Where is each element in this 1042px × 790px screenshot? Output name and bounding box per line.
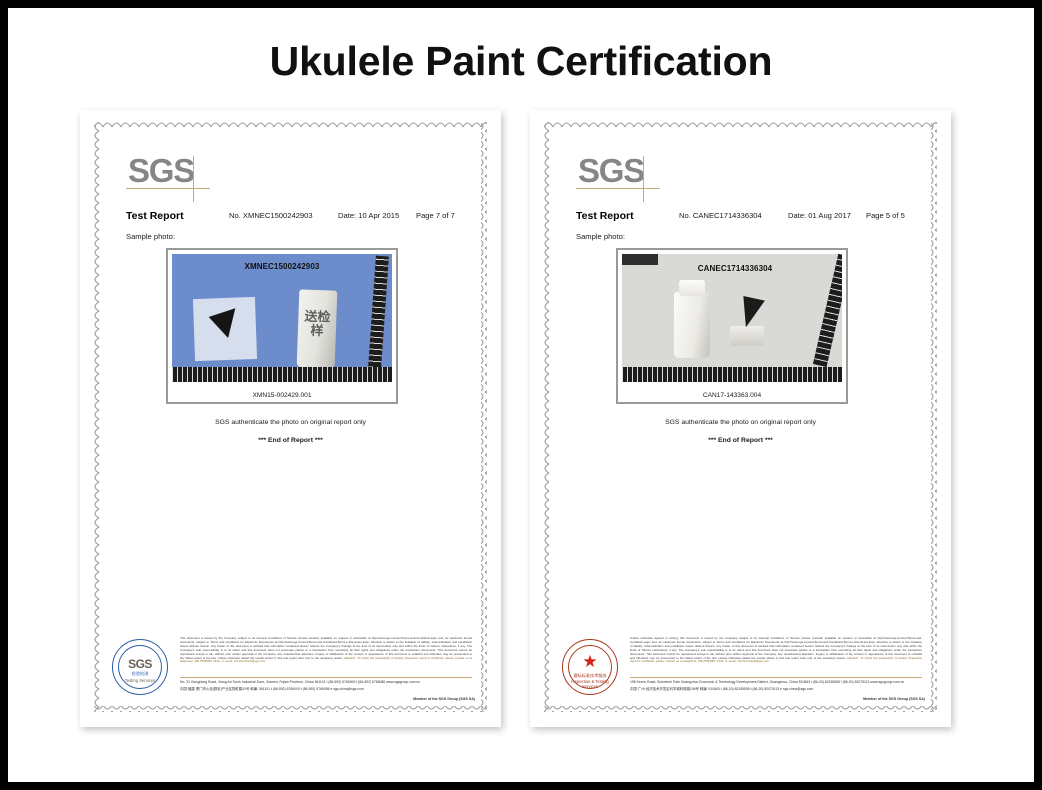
legal-disclaimer: This document is issued by the Company s… <box>180 637 472 664</box>
document-canvas: Ukulele Paint Certification <box>8 8 1034 782</box>
photo-overlay-code: CANEC1714336304 <box>628 264 842 273</box>
address-english: No. 31 Xianghong Road, Xiang An Torch In… <box>180 680 472 685</box>
sgs-logo-right: SGS <box>576 154 662 200</box>
bottle-cap <box>679 280 705 296</box>
ruler-horizontal <box>172 367 392 382</box>
address-chinese: 中国·福建·厦门市火炬(翔安)产业区翔虹路31号 邮编: 361101 t (8… <box>180 687 472 692</box>
ruler-horizontal <box>622 367 842 382</box>
sgs-logo-hline <box>576 188 660 189</box>
sample-photo-label: Sample photo: <box>126 232 175 241</box>
paint-fragment <box>737 296 765 330</box>
end-of-report-text: *** End of Report *** <box>554 437 927 444</box>
certificate-card-right[interactable]: SGS Test Report No. CANEC1714336304 Date… <box>530 110 951 727</box>
bottle-label-text: 送检样 <box>299 309 334 352</box>
sample-photo-image-right: CANEC1714336304 <box>622 254 842 382</box>
report-number: No. CANEC1714336304 <box>679 211 762 220</box>
report-title: Test Report <box>576 210 634 222</box>
page-title: Ukulele Paint Certification <box>8 38 1034 85</box>
member-line: Member of the SGS Group (SGS SA) <box>413 697 475 701</box>
address-divider <box>180 677 472 678</box>
sample-stand <box>730 326 764 346</box>
report-date: Date: 01 Aug 2017 <box>788 211 851 220</box>
certificate-footer-left: SGS 检验检测 Testing Services This document … <box>104 637 477 703</box>
end-of-report-text: *** End of Report *** <box>104 437 477 444</box>
ruler-ticks <box>368 256 389 369</box>
sgs-logo-text: SGS <box>578 154 644 188</box>
sgs-logo-left: SGS <box>126 154 212 200</box>
address-english: 198 Kezhu Road, Scientech Park Guangzhou… <box>630 680 922 685</box>
sample-photo-image-left: XMNEC1500242903 送检样 <box>172 254 392 382</box>
ruler-vertical <box>368 256 389 369</box>
photo-overlay-code: XMNEC1500242903 <box>172 262 392 271</box>
legal-disclaimer: Unless otherwise agreed in writing, this… <box>630 637 922 664</box>
photo-caption: CAN17-143363.004 <box>618 392 846 399</box>
authenticate-text: SGS authenticate the photo on original r… <box>104 419 477 426</box>
report-number: No. XMNEC1500242903 <box>229 211 313 220</box>
sgs-logo-vline <box>193 156 194 202</box>
seal-word: SGS <box>113 657 167 671</box>
report-header-right: Test Report No. CANEC1714336304 Date: 01… <box>576 210 906 224</box>
sgs-testing-seal: SGS 检验检测 Testing Services <box>112 639 168 695</box>
certificate-card-left[interactable]: SGS Test Report No. XMNEC1500242903 Date… <box>80 110 501 727</box>
sample-bottle <box>674 292 710 358</box>
photo-caption: XMN15-002429.001 <box>168 392 396 399</box>
sample-photo-label: Sample photo: <box>576 232 625 241</box>
sample-photo-frame-right: CANEC1714336304 CAN17-143363.004 <box>616 248 848 404</box>
report-header-left: Test Report No. XMNEC1500242903 Date: 10… <box>126 210 456 224</box>
seal-subtitle: Inspection & Testing Services <box>563 679 617 689</box>
authenticate-text: SGS authenticate the photo on original r… <box>554 419 927 426</box>
ruler-ticks <box>622 367 842 382</box>
certificate-content-left: SGS Test Report No. XMNEC1500242903 Date… <box>104 132 477 702</box>
ruler-ticks <box>172 367 392 382</box>
sgs-logo-vline <box>643 156 644 202</box>
sgs-logo-text: SGS <box>128 154 194 188</box>
report-title: Test Report <box>126 210 184 222</box>
member-line: Member of the SGS Group (SGS SA) <box>863 697 925 701</box>
report-page: Page 7 of 7 <box>416 211 455 220</box>
report-page: Page 5 of 5 <box>866 211 905 220</box>
seal-chinese-text: 检验检测 <box>113 671 167 677</box>
certificate-footer-right: ★ 通标标准技术服务 Inspection & Testing Services… <box>554 637 927 703</box>
seal-subtitle: Testing Services <box>113 678 167 683</box>
certificate-content-right: SGS Test Report No. CANEC1714336304 Date… <box>554 132 927 702</box>
star-icon: ★ <box>582 654 598 670</box>
address-divider <box>630 677 922 678</box>
address-chinese: 中国·广州·经济技术开发区科学城科珠路198号 邮编: 510663 t (86… <box>630 687 922 692</box>
sgs-logo-hline <box>126 188 210 189</box>
sample-photo-frame-left: XMNEC1500242903 送检样 XMN15-002429.001 <box>166 248 398 404</box>
report-date: Date: 10 Apr 2015 <box>338 211 399 220</box>
inspection-testing-seal: ★ 通标标准技术服务 Inspection & Testing Services <box>562 639 618 695</box>
